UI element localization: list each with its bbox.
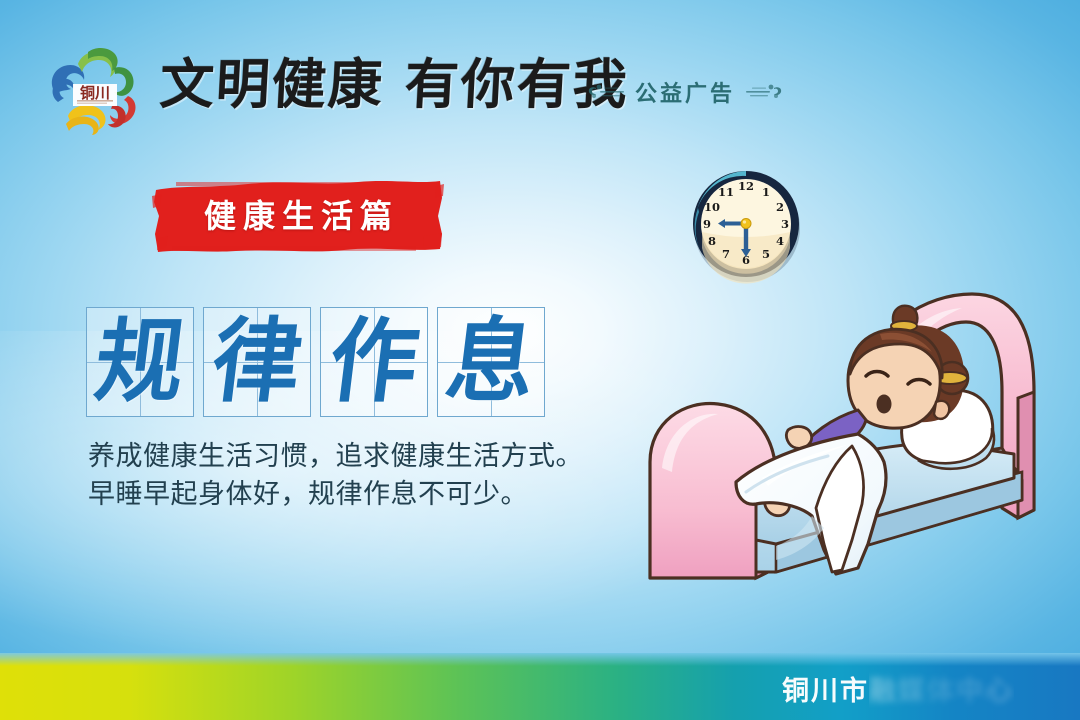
section-banner: 健康生活篇 — [152, 176, 444, 254]
bottom-credit-visible: 铜川市 — [782, 669, 869, 708]
svg-text:8: 8 — [708, 234, 716, 248]
bottom-credit-obscured: 融媒体中心 — [869, 669, 1014, 708]
svg-text:12: 12 — [738, 179, 754, 193]
svg-text:3: 3 — [781, 217, 789, 231]
ad-tag-label: 公益广告 — [635, 76, 735, 108]
svg-text:11: 11 — [718, 185, 734, 199]
wall-clock: 12 1 2 3 4 5 6 7 8 9 10 11 — [688, 164, 806, 286]
headline-cell: 息 — [437, 307, 545, 417]
tongchuan-city-logo: 铜川 — [42, 44, 146, 144]
headline-cell: 规 — [86, 307, 194, 417]
cloud-swirl-icon-left — [586, 81, 626, 103]
public-service-ad-tag: 公益广告 — [586, 76, 784, 108]
poster-header: 铜川 文明健康 有你有我 公益广告 — [0, 0, 1080, 150]
svg-text:铜川: 铜川 — [80, 84, 110, 102]
svg-text:10: 10 — [704, 200, 720, 214]
svg-text:4: 4 — [776, 234, 784, 248]
girl-sleeping-in-bed-illustration — [636, 282, 1080, 622]
svg-text:5: 5 — [762, 247, 770, 261]
svg-text:9: 9 — [703, 217, 711, 231]
svg-text:1: 1 — [762, 185, 770, 199]
bottom-bar-fade — [0, 653, 1080, 666]
headline-char: 律 — [197, 306, 317, 418]
headline-cell: 律 — [203, 307, 311, 417]
svg-text:7: 7 — [722, 247, 730, 261]
headline-character-grid: 规 律 作 息 — [86, 307, 545, 417]
headline-char: 作 — [314, 306, 434, 418]
svg-text:2: 2 — [776, 200, 784, 214]
body-copy-line: 养成健康生活习惯，追求健康生活方式。 — [88, 438, 668, 476]
headline-char: 息 — [431, 306, 551, 418]
body-copy: 养成健康生活习惯，追求健康生活方式。 早睡早起身体好，规律作息不可少。 — [88, 438, 668, 515]
section-banner-label: 健康生活篇 — [152, 176, 444, 254]
body-copy-line: 早睡早起身体好，规律作息不可少。 — [88, 476, 668, 514]
headline-cell: 作 — [320, 307, 428, 417]
bottom-credit: 铜川市 融媒体中心 — [782, 669, 1014, 708]
bottom-gradient-bar: 铜川市 融媒体中心 — [0, 653, 1080, 720]
public-service-poster: 铜川 文明健康 有你有我 公益广告 — [0, 0, 1080, 720]
headline-char: 规 — [80, 306, 200, 418]
cloud-swirl-icon-right — [744, 81, 784, 103]
campaign-slogan: 文明健康 有你有我 — [159, 58, 631, 112]
